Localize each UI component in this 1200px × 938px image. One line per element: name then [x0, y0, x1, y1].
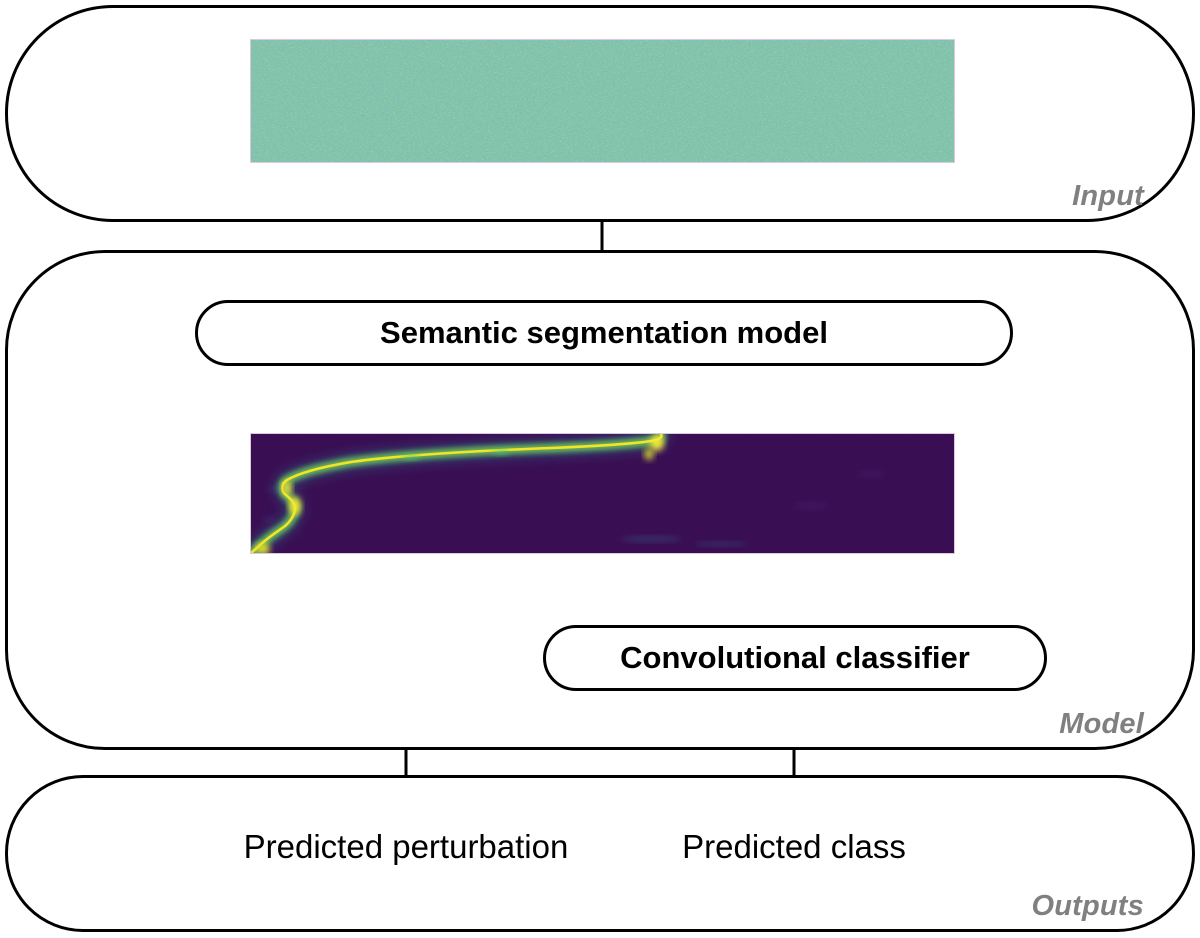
segmentation-mask-image [251, 434, 954, 553]
predicted-class-label: Predicted class [682, 828, 906, 866]
stage-label-model: Model [1059, 708, 1144, 741]
diagram-canvas: Input Model Semantic segmentation model [0, 0, 1200, 938]
predicted-perturbation-label: Predicted perturbation [244, 828, 569, 866]
semantic-segmentation-model-label: Semantic segmentation model [380, 315, 828, 351]
convolutional-classifier-box[interactable]: Convolutional classifier [543, 625, 1047, 691]
semantic-segmentation-model-box[interactable]: Semantic segmentation model [195, 300, 1013, 366]
stage-label-outputs: Outputs [1031, 890, 1144, 923]
stage-label-input: Input [1072, 180, 1144, 213]
noisy-spectrogram-image [251, 40, 954, 162]
stage-outputs: Outputs [5, 775, 1195, 932]
convolutional-classifier-label: Convolutional classifier [620, 640, 970, 676]
